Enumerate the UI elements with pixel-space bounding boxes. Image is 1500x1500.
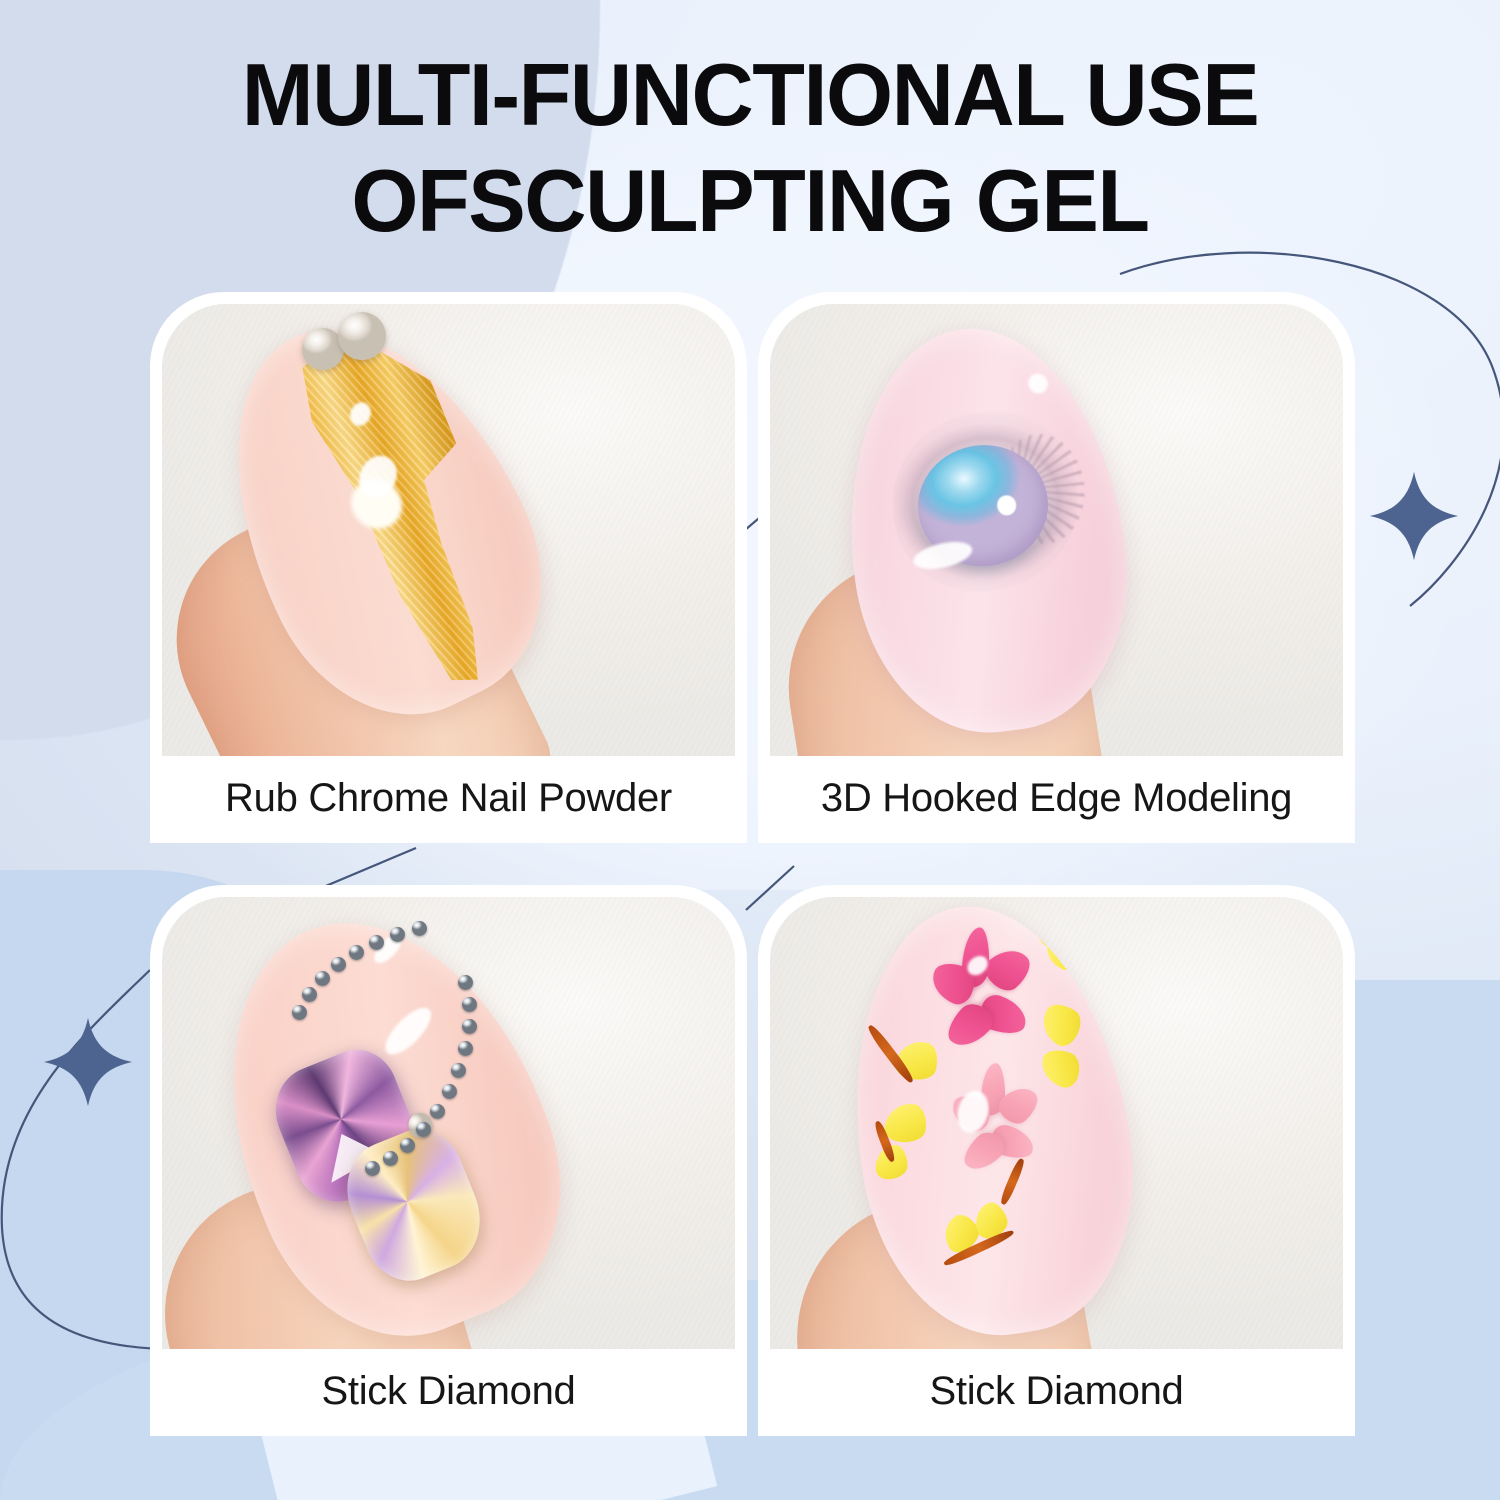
yellow-leaf [1034, 998, 1087, 1051]
amber-stroke [998, 1158, 1025, 1206]
card-label-rub-chrome: Rub Chrome Nail Powder [150, 756, 747, 843]
page-title-line-1: MULTI-FUNCTIONAL USE [15, 42, 1485, 148]
nail-gloss-highlight-small [1024, 369, 1051, 397]
feature-card-stick-diamond-flowers[interactable]: Stick Diamond [758, 885, 1355, 1436]
feature-card-stick-diamond-gems[interactable]: Stick Diamond [150, 885, 747, 1436]
feature-card-grid: Rub Chrome Nail Powder 3D Hooked Edge Mo… [150, 292, 1355, 1437]
card-label-stick-diamond-gems: Stick Diamond [150, 1349, 747, 1436]
card-label-stick-diamond-flowers: Stick Diamond [758, 1349, 1355, 1436]
rhinestone-chain [162, 897, 735, 1349]
yellow-leaf [1037, 1045, 1085, 1091]
card-label-3d-hooked-edge: 3D Hooked Edge Modeling [758, 756, 1355, 843]
page-title-line-2: OFSCULPTING GEL [15, 148, 1485, 254]
nail-photo-stick-diamond-flowers [770, 897, 1343, 1349]
feature-card-3d-hooked-edge-modeling[interactable]: 3D Hooked Edge Modeling [758, 292, 1355, 843]
nail-photo-rub-chrome [162, 304, 735, 756]
pearl-bead-right [338, 312, 386, 360]
page-title: MULTI-FUNCTIONAL USE OFSCULPTING GEL [0, 42, 1500, 254]
feature-card-rub-chrome-nail-powder[interactable]: Rub Chrome Nail Powder [150, 292, 747, 843]
yellow-leaf [883, 1101, 928, 1144]
nail-photo-3d-hooked-edge [770, 304, 1343, 756]
nail-photo-stick-diamond-gems [162, 897, 735, 1349]
